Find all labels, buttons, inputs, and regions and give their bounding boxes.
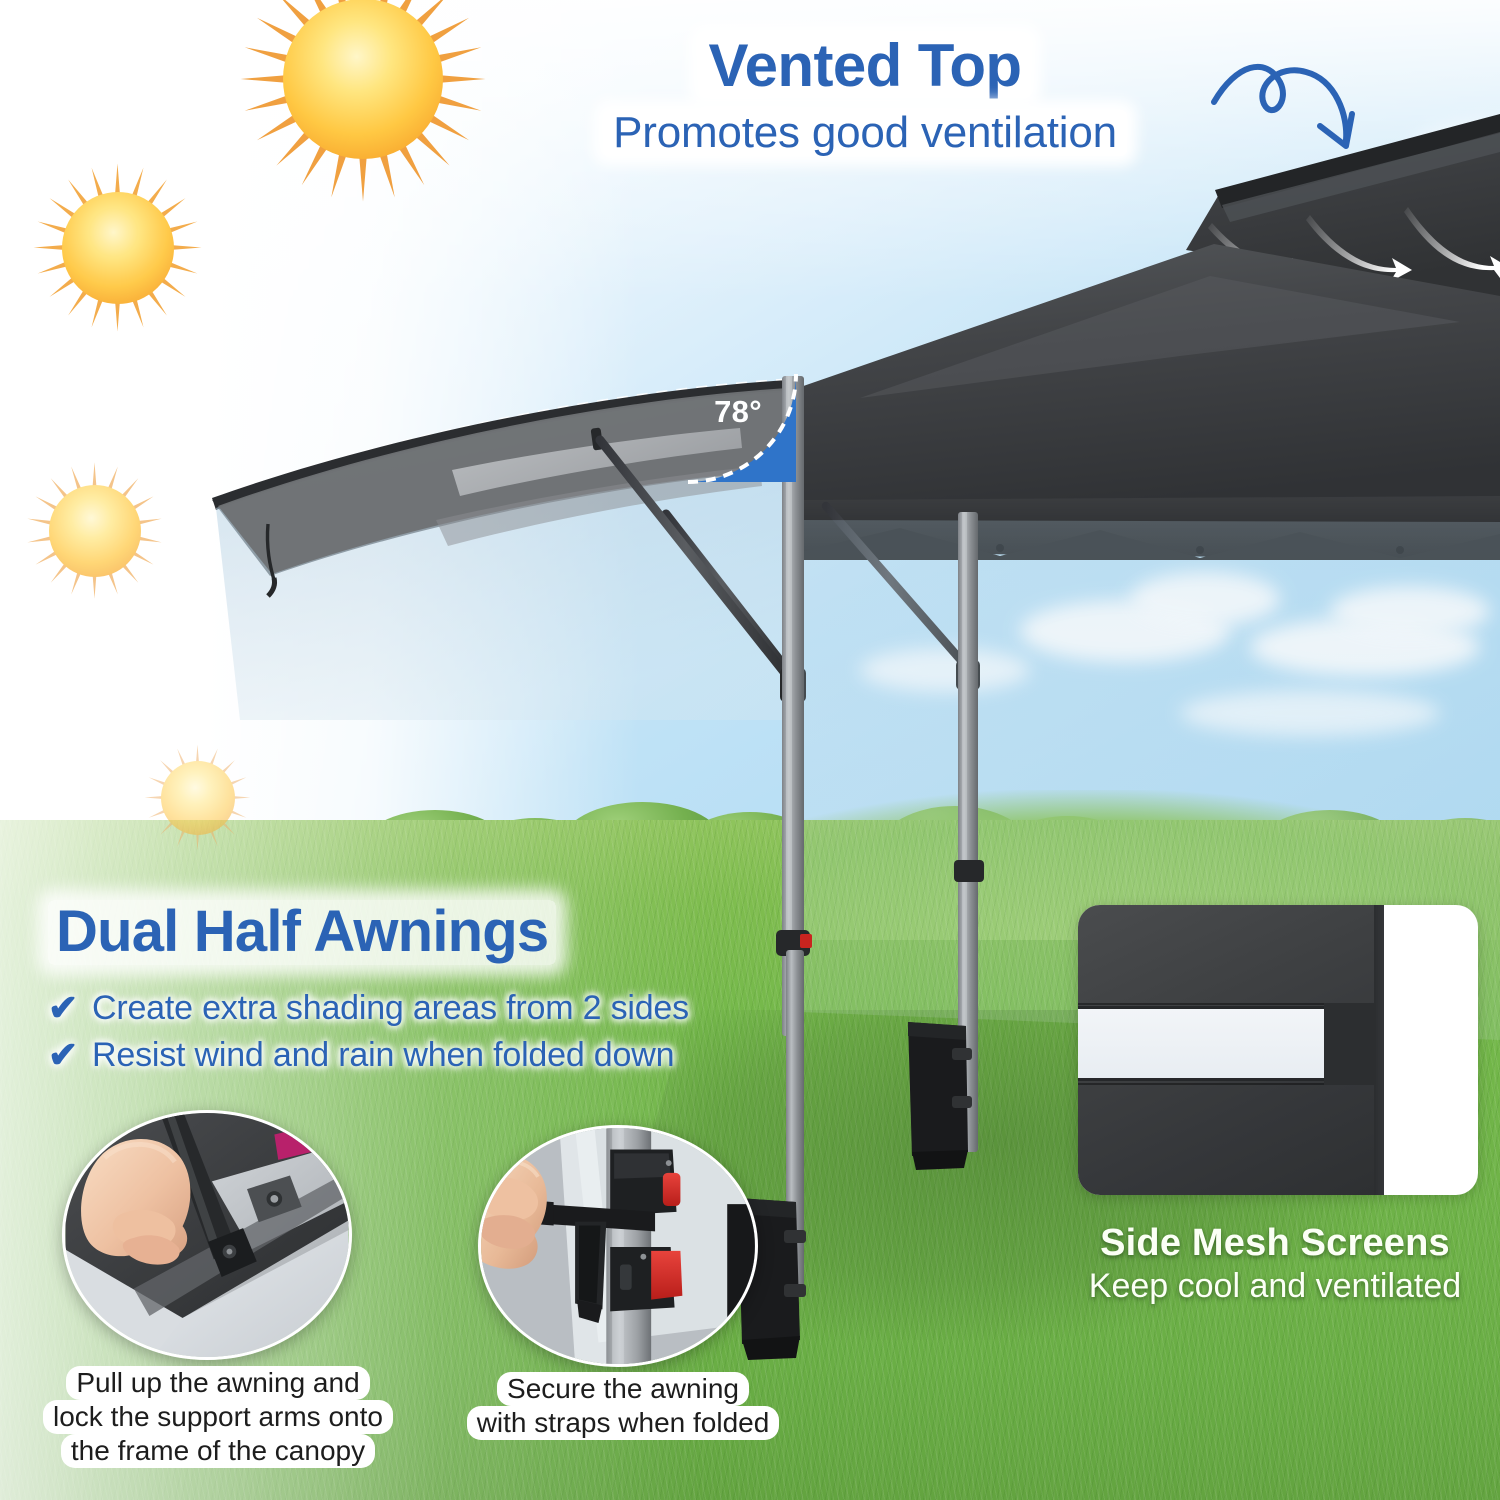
feature-title: Dual Half Awnings <box>48 900 556 965</box>
angle-badge: 78° <box>678 372 798 484</box>
inset-secure-with-straps-caption: Secure the awning with straps when folde… <box>448 1372 798 1440</box>
bullet-text: Resist wind and rain when folded down <box>92 1036 674 1075</box>
mesh-panel-side-strip <box>1324 1003 1376 1085</box>
caption-line: Pull up the awning and <box>66 1366 369 1400</box>
check-icon: ✔ <box>48 990 92 1026</box>
list-item: ✔ Resist wind and rain when folded down <box>48 1036 748 1075</box>
mesh-screen-label: Side Mesh Screens Keep cool and ventilat… <box>1040 1222 1500 1306</box>
curly-arrow-down-right-icon <box>1196 42 1376 152</box>
page-title: Vented Top <box>699 34 1032 98</box>
inset-lock-support-arms <box>62 1110 352 1360</box>
sandbag-weight-1 <box>908 1022 972 1170</box>
mesh-screen-subtitle: Keep cool and ventilated <box>1040 1267 1500 1306</box>
mesh-screen-title: Side Mesh Screens <box>1040 1222 1500 1265</box>
inset-secure-with-straps <box>478 1125 758 1367</box>
feature-block: Dual Half Awnings ✔ Create extra shading… <box>48 900 748 1083</box>
check-icon: ✔ <box>48 1037 92 1073</box>
headline-block: Vented Top Promotes good ventilation <box>500 34 1230 156</box>
side-mesh-screen-panel <box>1078 905 1478 1195</box>
page-subtitle: Promotes good ventilation <box>603 110 1127 157</box>
caption-line: the frame of the canopy <box>61 1434 375 1468</box>
caption-line: lock the support arms onto <box>43 1400 393 1434</box>
list-item: ✔ Create extra shading areas from 2 side… <box>48 989 748 1028</box>
angle-value: 78° <box>678 394 798 430</box>
caption-line: Secure the awning <box>497 1372 749 1406</box>
inset-lock-support-arms-caption: Pull up the awning and lock the support … <box>20 1366 416 1468</box>
mesh-window <box>1078 1006 1324 1081</box>
feature-bullet-list: ✔ Create extra shading areas from 2 side… <box>48 989 748 1075</box>
bullet-text: Create extra shading areas from 2 sides <box>92 989 689 1028</box>
infographic-canvas: 78° Vented Top Promotes good ventilation… <box>0 0 1500 1500</box>
caption-line: with straps when folded <box>467 1406 780 1440</box>
